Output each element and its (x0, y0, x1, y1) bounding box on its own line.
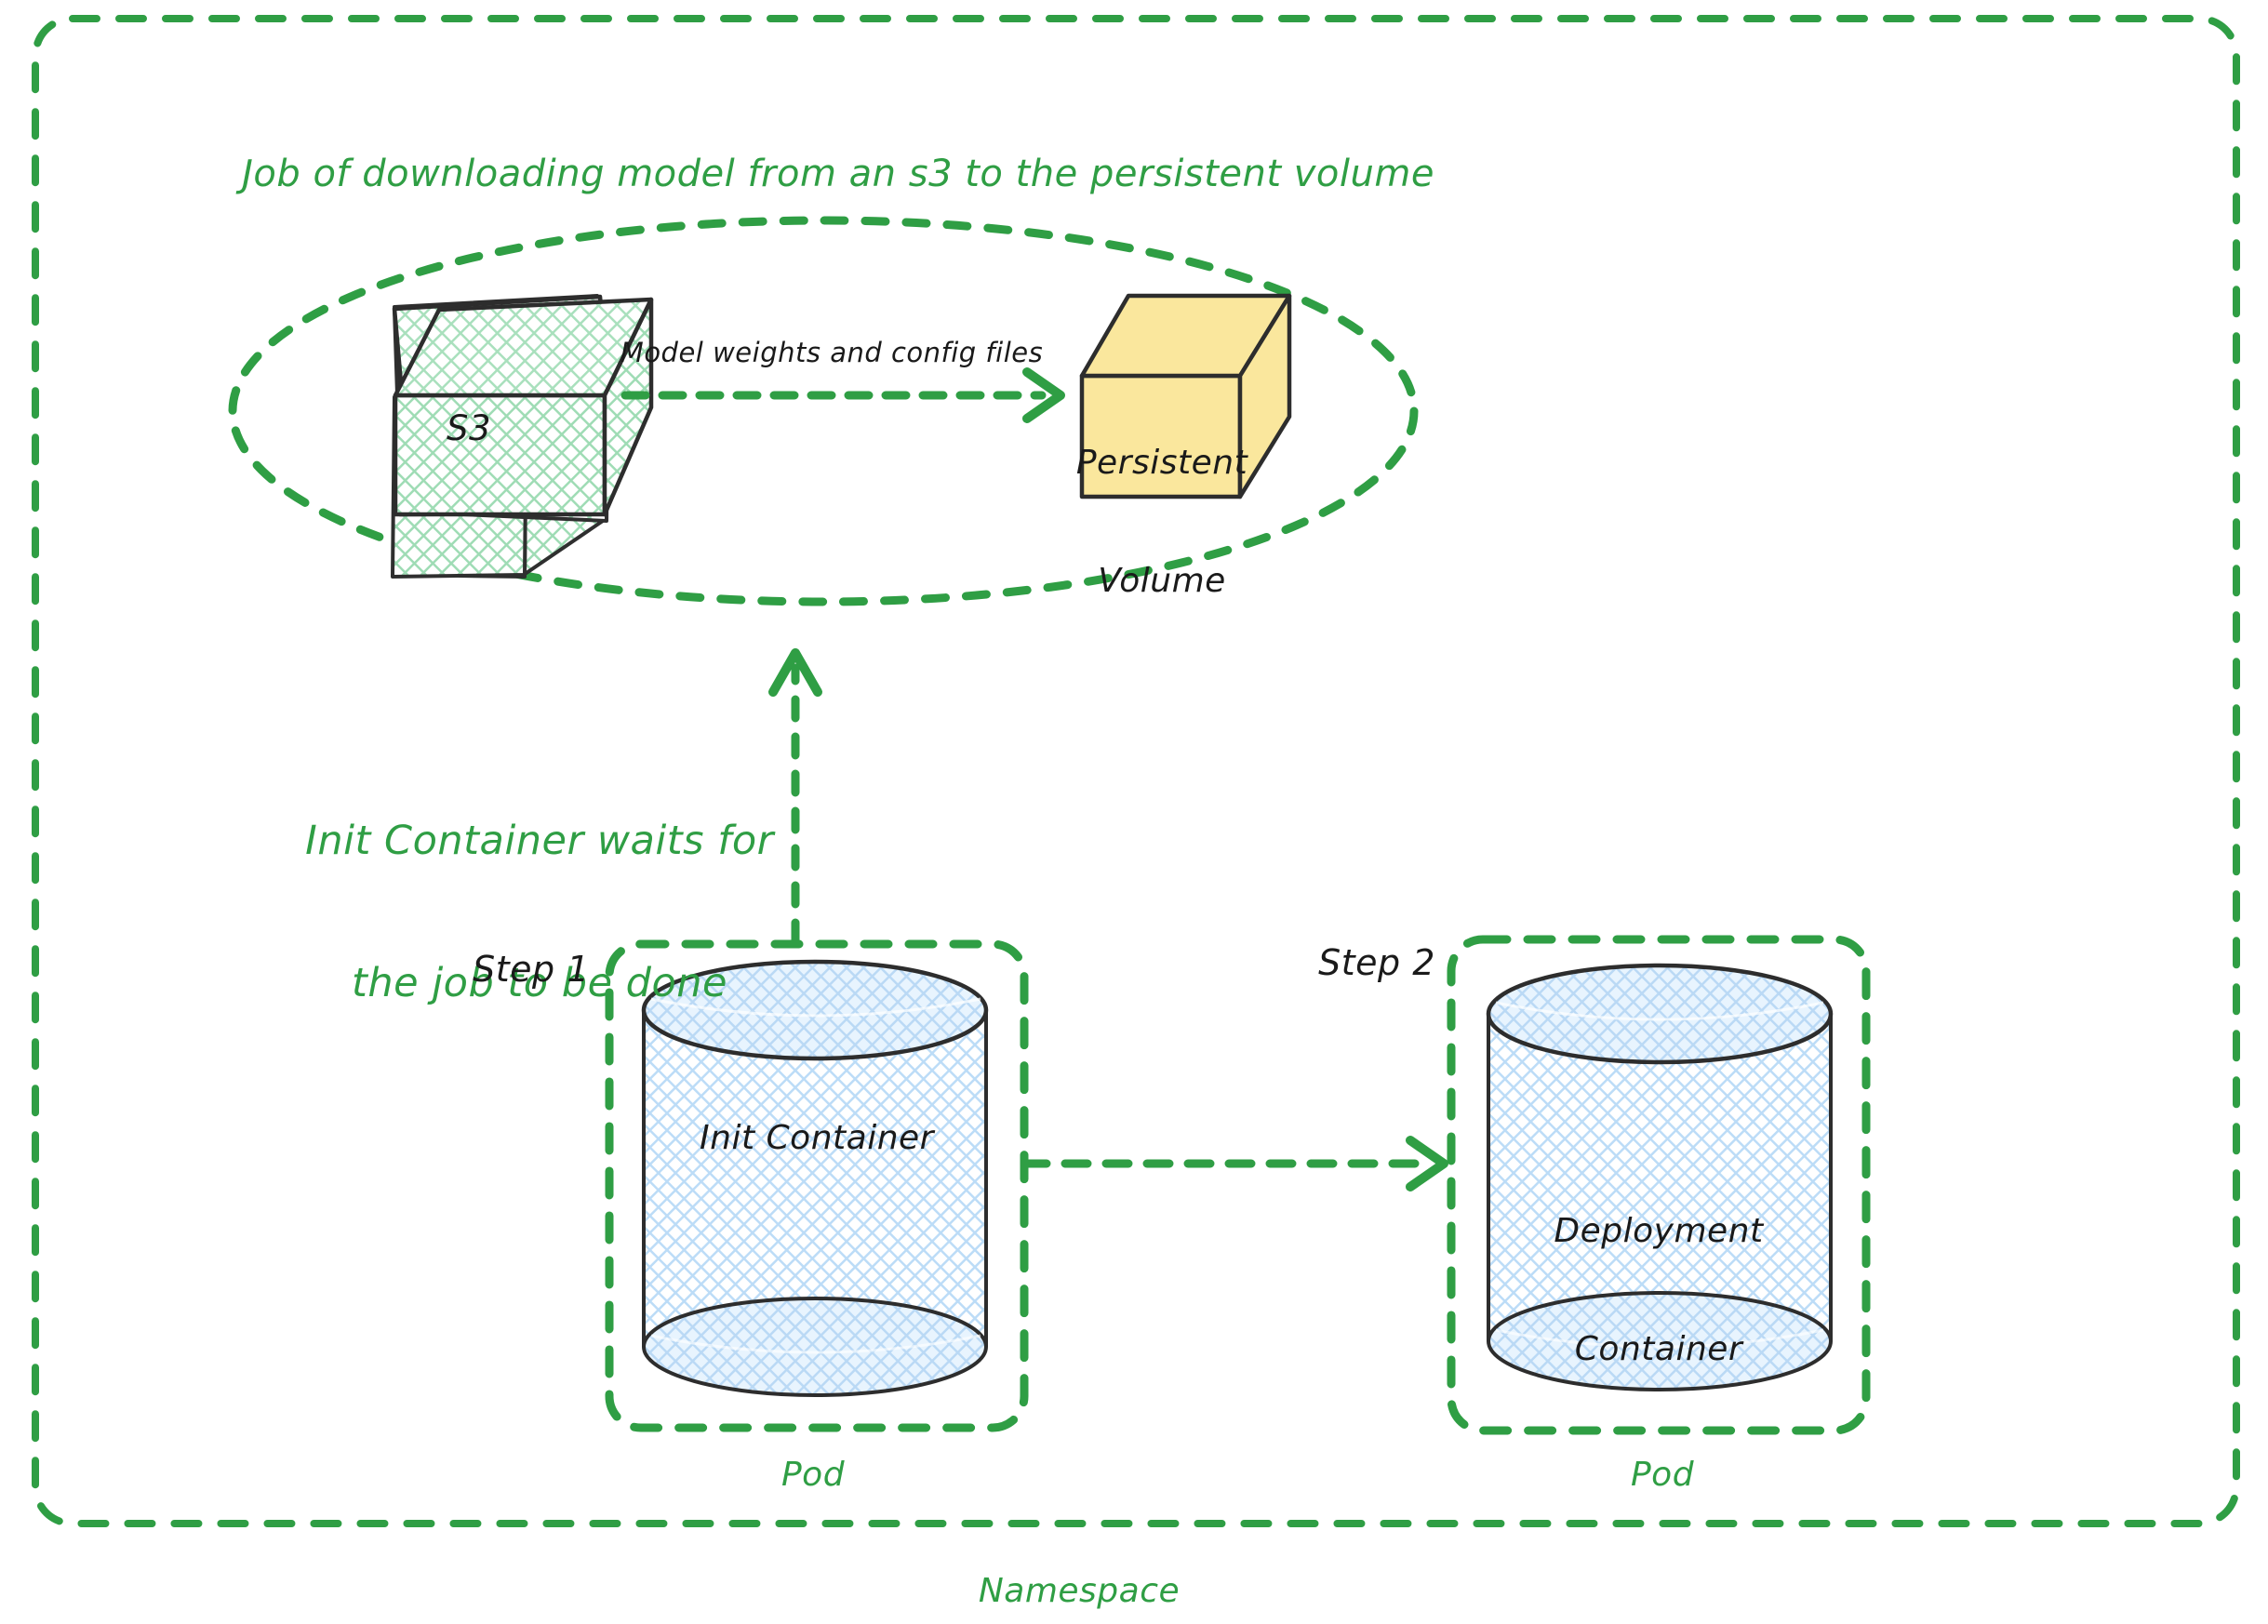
deploy-label-line2: Container (1554, 1330, 1763, 1369)
wait-label-line1: Init Container waits for (305, 818, 774, 865)
init-container-node-label: Init Container (700, 1119, 934, 1158)
pv-label-line2: Volume (1076, 562, 1247, 601)
step-1-label: Step 1 (473, 949, 590, 991)
edge-init-waits-for-job (773, 653, 818, 941)
edge-label-model-weights: Model weights and config files (620, 337, 1043, 368)
namespace-label: Namespace (979, 1572, 1180, 1611)
job-group-title: Job of downloading model from an s3 to t… (242, 153, 1434, 196)
deploy-label-line1: Deployment (1554, 1212, 1763, 1251)
s3-node-label: S3 (447, 408, 491, 449)
pv-label-line1: Persistent (1076, 444, 1247, 483)
step-2-label: Step 2 (1318, 942, 1435, 984)
pod-init-label: Pod (781, 1456, 845, 1495)
edge-init-to-deployment (1024, 1140, 1444, 1187)
deployment-container-node-label: Deployment Container (1554, 1133, 1763, 1449)
s3-cube (393, 296, 651, 577)
edge-s3-to-pv (625, 372, 1061, 419)
edge-label-init-waits: Init Container waits for the job to be d… (305, 724, 774, 1101)
diagram-canvas: Job of downloading model from an s3 to t… (0, 0, 2268, 1624)
persistent-volume-node-label: Persistent Volume (1076, 365, 1247, 681)
pod-deployment-label: Pod (1631, 1456, 1694, 1495)
